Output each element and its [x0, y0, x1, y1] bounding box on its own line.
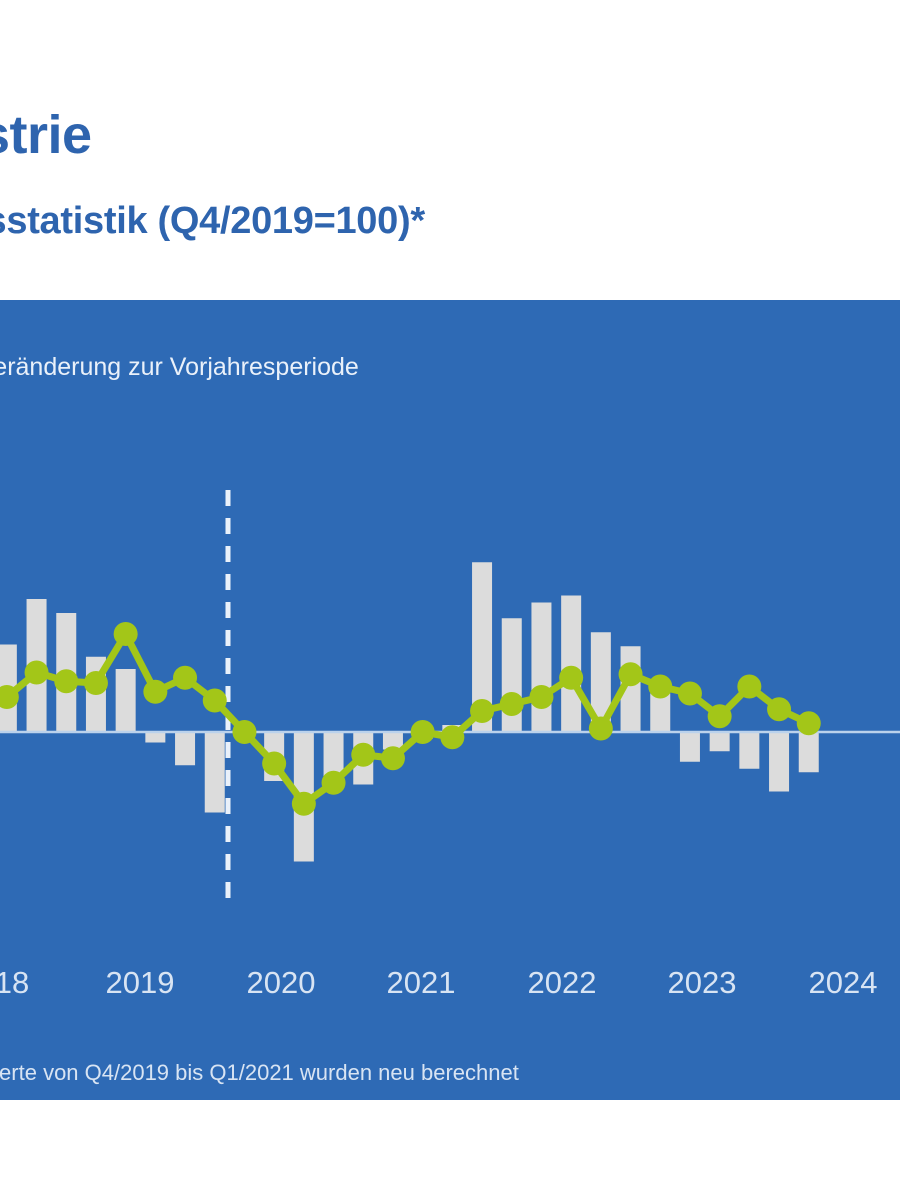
data-point-marker — [589, 717, 613, 741]
page-subtitle: Produktionsstatistik (Q4/2019=100)* — [0, 200, 425, 243]
data-point-marker — [559, 666, 583, 690]
chart-legend: Veränderung zur Vorjahresperiode — [0, 352, 359, 382]
data-point-marker — [84, 671, 108, 695]
data-point-marker — [470, 699, 494, 723]
data-point-marker — [737, 675, 761, 699]
x-axis-labels: 18201920202021202220232024 — [0, 965, 900, 1011]
bar — [205, 732, 225, 813]
data-point-marker — [411, 720, 435, 744]
legend-label: Veränderung zur Vorjahresperiode — [0, 355, 359, 380]
data-point-marker — [678, 682, 702, 706]
x-tick-label: 2019 — [106, 965, 175, 1001]
bar — [710, 732, 730, 751]
chart-plot-area — [0, 450, 900, 950]
data-point-marker — [262, 752, 286, 776]
chart-footnote: * Werte von Q4/2019 bis Q1/2021 wurden n… — [0, 1060, 519, 1086]
data-point-marker — [351, 743, 375, 767]
chart-panel: Veränderung zur Vorjahresperiode 1820192… — [0, 300, 900, 1100]
bar — [739, 732, 759, 769]
data-point-marker — [619, 662, 643, 686]
x-tick-label: 2023 — [668, 965, 737, 1001]
x-tick-label: 2021 — [387, 965, 456, 1001]
bar — [680, 732, 700, 762]
bar — [145, 732, 165, 743]
page-title: Industrie — [0, 104, 92, 166]
data-point-marker — [114, 622, 138, 646]
data-point-marker — [143, 680, 167, 704]
chart-svg — [0, 450, 900, 950]
data-point-marker — [173, 666, 197, 690]
bar — [799, 732, 819, 772]
data-point-marker — [322, 771, 346, 795]
bar — [175, 732, 195, 765]
data-point-marker — [292, 792, 316, 816]
data-point-marker — [708, 704, 732, 728]
bar — [116, 669, 136, 732]
x-tick-label: 2022 — [528, 965, 597, 1001]
data-point-marker — [767, 697, 791, 721]
bar-series — [0, 562, 819, 861]
data-point-marker — [25, 661, 49, 685]
bar — [531, 603, 551, 733]
bar — [769, 732, 789, 792]
bar — [650, 694, 670, 733]
page-header: Industrie Produktionsstatistik (Q4/2019=… — [0, 0, 900, 300]
x-tick-label: 2024 — [809, 965, 878, 1001]
data-point-marker — [203, 689, 227, 713]
x-tick-label: 2020 — [247, 965, 316, 1001]
data-point-marker — [797, 711, 821, 735]
data-point-marker — [529, 685, 553, 709]
data-point-marker — [232, 720, 256, 744]
data-point-marker — [440, 725, 464, 749]
footer-strip — [0, 1100, 900, 1200]
data-point-marker — [500, 692, 524, 716]
bar — [561, 596, 581, 733]
data-point-marker — [54, 669, 78, 693]
data-point-marker — [381, 746, 405, 770]
data-point-marker — [648, 675, 672, 699]
x-tick-label: 18 — [0, 965, 29, 1001]
